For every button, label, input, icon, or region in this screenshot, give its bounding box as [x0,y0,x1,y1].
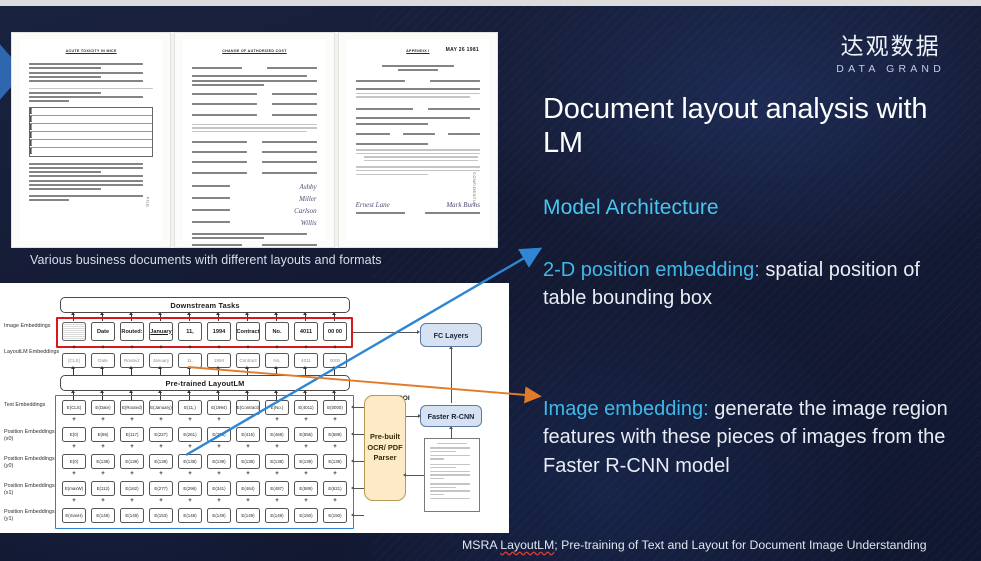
text-embedding-cell: E(4011) [294,400,318,415]
citation-spellcheck-term: LayoutLM [500,538,554,552]
top-accent-bar [0,0,981,6]
connector-parser-to-x1 [354,488,364,489]
signature: Ashby [300,183,317,191]
position-y0-cell: E(138) [149,454,173,469]
connector-roi-to-rcnn [406,416,418,417]
brand-name-en: DATA GRAND [836,63,945,75]
position-x1-cell: E(112) [91,481,115,496]
position-y0-cell: E(138) [236,454,260,469]
position-x1-cell: E(589) [294,481,318,496]
connector-parser-to-y0 [354,461,364,462]
image-embedding-cell: 1994 [207,322,231,341]
citation-suffix: ; Pre-training of Text and Layout for Do… [554,538,926,552]
text-embedding-cell: E(Date) [91,400,115,415]
position-x0-cell: E(227) [149,427,173,442]
position-y0-cell: E(138) [91,454,115,469]
image-embedding-cell: 4011 [294,322,318,341]
diagram-row-label-position-y0: Position Embeddings (y0) [4,456,62,471]
position-x1-cell: E(341) [207,481,231,496]
document-vertical-text: CONFIDENTIAL [472,172,477,207]
diagram-row-label-text-embeddings: Text Embeddings [4,402,62,409]
position-y1-cell: E(153) [149,508,173,523]
position-y1-cell: E(149) [236,508,260,523]
diagram-row-label-position-x1: Position Embeddings (x1) [4,483,62,498]
signature: Miller [299,195,317,203]
position-y1-cell: E(150) [294,508,318,523]
image-embedding-cell: January [149,322,173,341]
document-samples-strip: ACUTE TOXICITY IN MICE [11,32,498,248]
position-x1-cell: E(487) [265,481,289,496]
position-x0-cell: E(0) [62,427,86,442]
documents-caption: Various business documents with differen… [30,253,382,267]
text-embedding-cell: E(Contract) [236,400,260,415]
text-embedding-cell: E(1994) [207,400,231,415]
document-page: MAY 26 1981 APPENDIX I [347,39,489,241]
document-thumbnail: MAY 26 1981 APPENDIX I [338,32,498,248]
document-vertical-text: FILE [145,197,150,207]
position-x0-cell: E(86) [91,427,115,442]
date-stamp: MAY 26 1981 [446,47,479,53]
position-y1-cell: E(149) [207,508,231,523]
image-embedding-cell: 00 00 [323,322,347,341]
position-y0-cell: E(138) [120,454,144,469]
text-embedding-cell: E(CLS) [62,400,86,415]
diagram-row-label-position-y1: Position Embeddings (y1) [4,509,62,524]
bullet-image-embedding: Image embedding: generate the image regi… [543,395,953,480]
position-y0-cell: E(139) [294,454,318,469]
position-y0-cell: E(138) [265,454,289,469]
document-table [29,107,153,157]
diagram-row-label-position-x0: Position Embeddings (x0) [4,429,62,444]
citation-footer: MSRA LayoutLM; Pre-training of Text and … [462,538,977,552]
signature: Willis [301,219,317,227]
text-embedding-cell: E(0000) [323,400,347,415]
position-y1-cell: E(148) [91,508,115,523]
connector-doc-to-parser [406,475,424,476]
diagram-row-label-image-embeddings: Image Embeddings [4,323,62,330]
position-x0-cell: E(303) [207,427,231,442]
signature: Ernest Lane [356,201,390,209]
signature: Carlson [294,207,317,215]
connector-parser-to-y1 [354,515,364,516]
image-embedding-cell: No. [265,322,289,341]
image-embedding-cell: Routed: [120,322,144,341]
position-y1-cell: E(maxH) [62,508,86,523]
position-y1-cell: E(150) [323,508,347,523]
position-x0-cell: E(261) [178,427,202,442]
connector-fc-up [451,349,452,403]
position-y0-cell: E(139) [207,454,231,469]
text-embedding-cell: E(No.) [265,400,289,415]
image-embedding-cell: Date [91,322,115,341]
text-embedding-cell: E(January) [149,400,173,415]
image-embedding-cell: 11, [178,322,202,341]
connector-image-to-fc [353,332,417,333]
position-x0-cell: E(556) [294,427,318,442]
position-x0-cell: E(415) [236,427,260,442]
position-x1-cell: E(621) [323,481,347,496]
position-x1-cell: E(maxW) [62,481,86,496]
position-x1-cell: E(162) [120,481,144,496]
slide-title: Document layout analysis with LM [543,92,943,160]
image-embedding-cell-thumbnail [62,322,86,341]
downstream-tasks-bar: Downstream Tasks [60,297,350,313]
text-embedding-cell: E(Routed) [120,400,144,415]
slide-canvas: 达观数据 DATA GRAND ACUTE TOXICITY IN MICE [0,0,981,561]
parsed-document-preview [424,438,480,512]
position-y0-cell: E(139) [323,454,347,469]
position-x0-cell: E(589) [323,427,347,442]
position-y1-cell: E(149) [265,508,289,523]
connector-parser-to-x0 [354,434,364,435]
citation-prefix: MSRA [462,538,500,552]
image-embedding-cell: Contract [236,322,260,341]
position-x1-cell: E(464) [236,481,260,496]
position-x1-cell: E(296) [178,481,202,496]
architecture-diagram: Image Embeddings LayoutLM Embeddings Tex… [0,283,509,533]
diagram-row-label-layoutlm-embeddings: LayoutLM Embeddings [4,349,62,356]
position-x0-cell: E(117) [120,427,144,442]
position-x0-cell: E(468) [265,427,289,442]
brand-logo: 达观数据 DATA GRAND [836,34,945,75]
connector-rcnn-up [451,429,452,439]
position-x1-cell: E(277) [149,481,173,496]
slide-subtitle: Model Architecture [543,196,943,220]
connector-parser-to-text [354,407,364,408]
ocr-parser-box: Pre-built OCR/ PDF Parser [364,395,406,501]
text-embedding-cell: E(11,) [178,400,202,415]
faster-rcnn-box: Faster R-CNN [420,405,482,427]
position-y0-cell: E(0) [62,454,86,469]
pretrained-layoutlm-bar: Pre-trained LayoutLM [60,375,350,391]
document-page: CHANGE OF AUTHORIZED COST [183,39,325,241]
position-y1-cell: E(148) [120,508,144,523]
position-y0-cell: E(138) [178,454,202,469]
fc-layers-box: FC Layers [420,323,482,347]
bullet-lead: 2-D position embedding: [543,259,760,281]
position-y1-cell: E(148) [178,508,202,523]
brand-name-cn: 达观数据 [836,34,945,59]
document-thumbnail: ACUTE TOXICITY IN MICE [11,32,171,248]
document-page: ACUTE TOXICITY IN MICE [20,39,162,241]
bullet-2d-position-embedding: 2-D position embedding: spatial position… [543,256,953,313]
document-thumbnail: CHANGE OF AUTHORIZED COST [174,32,334,248]
bullet-lead: Image embedding: [543,398,709,420]
